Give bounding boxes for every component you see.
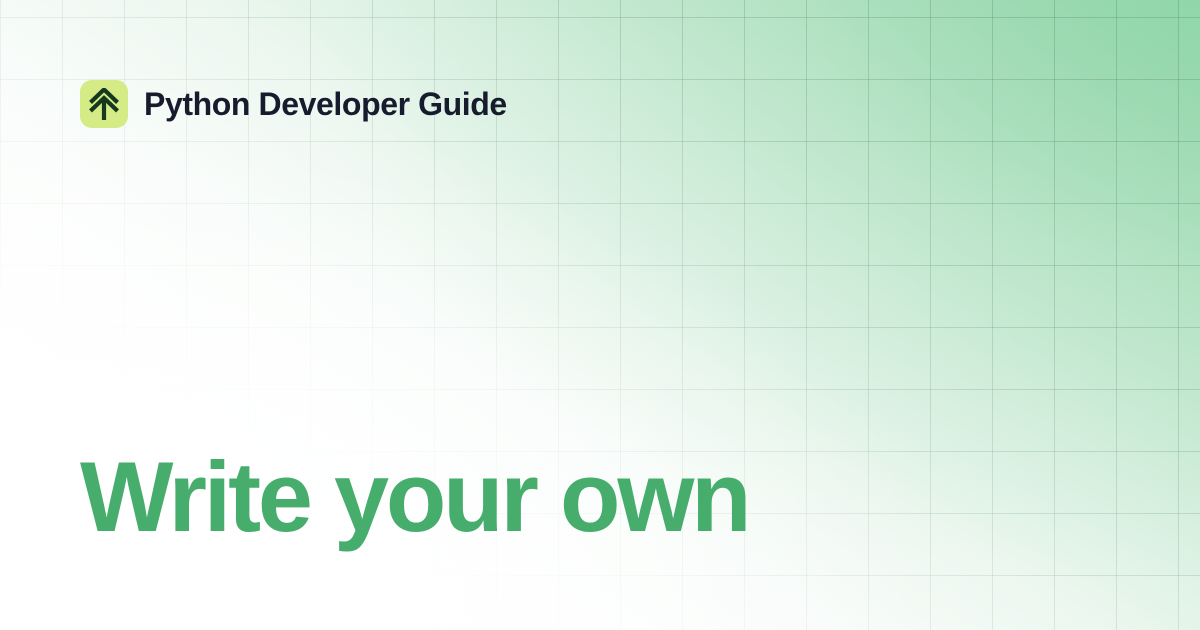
- brand-lockup: Python Developer Guide: [80, 80, 507, 128]
- card-content: Python Developer Guide Write your own: [0, 0, 1200, 630]
- brand-title: Python Developer Guide: [144, 88, 507, 120]
- og-card: Python Developer Guide Write your own: [0, 0, 1200, 630]
- brand-badge: [80, 80, 128, 128]
- page-title: Write your own: [80, 446, 748, 549]
- tree-arrow-up-icon: [89, 88, 119, 120]
